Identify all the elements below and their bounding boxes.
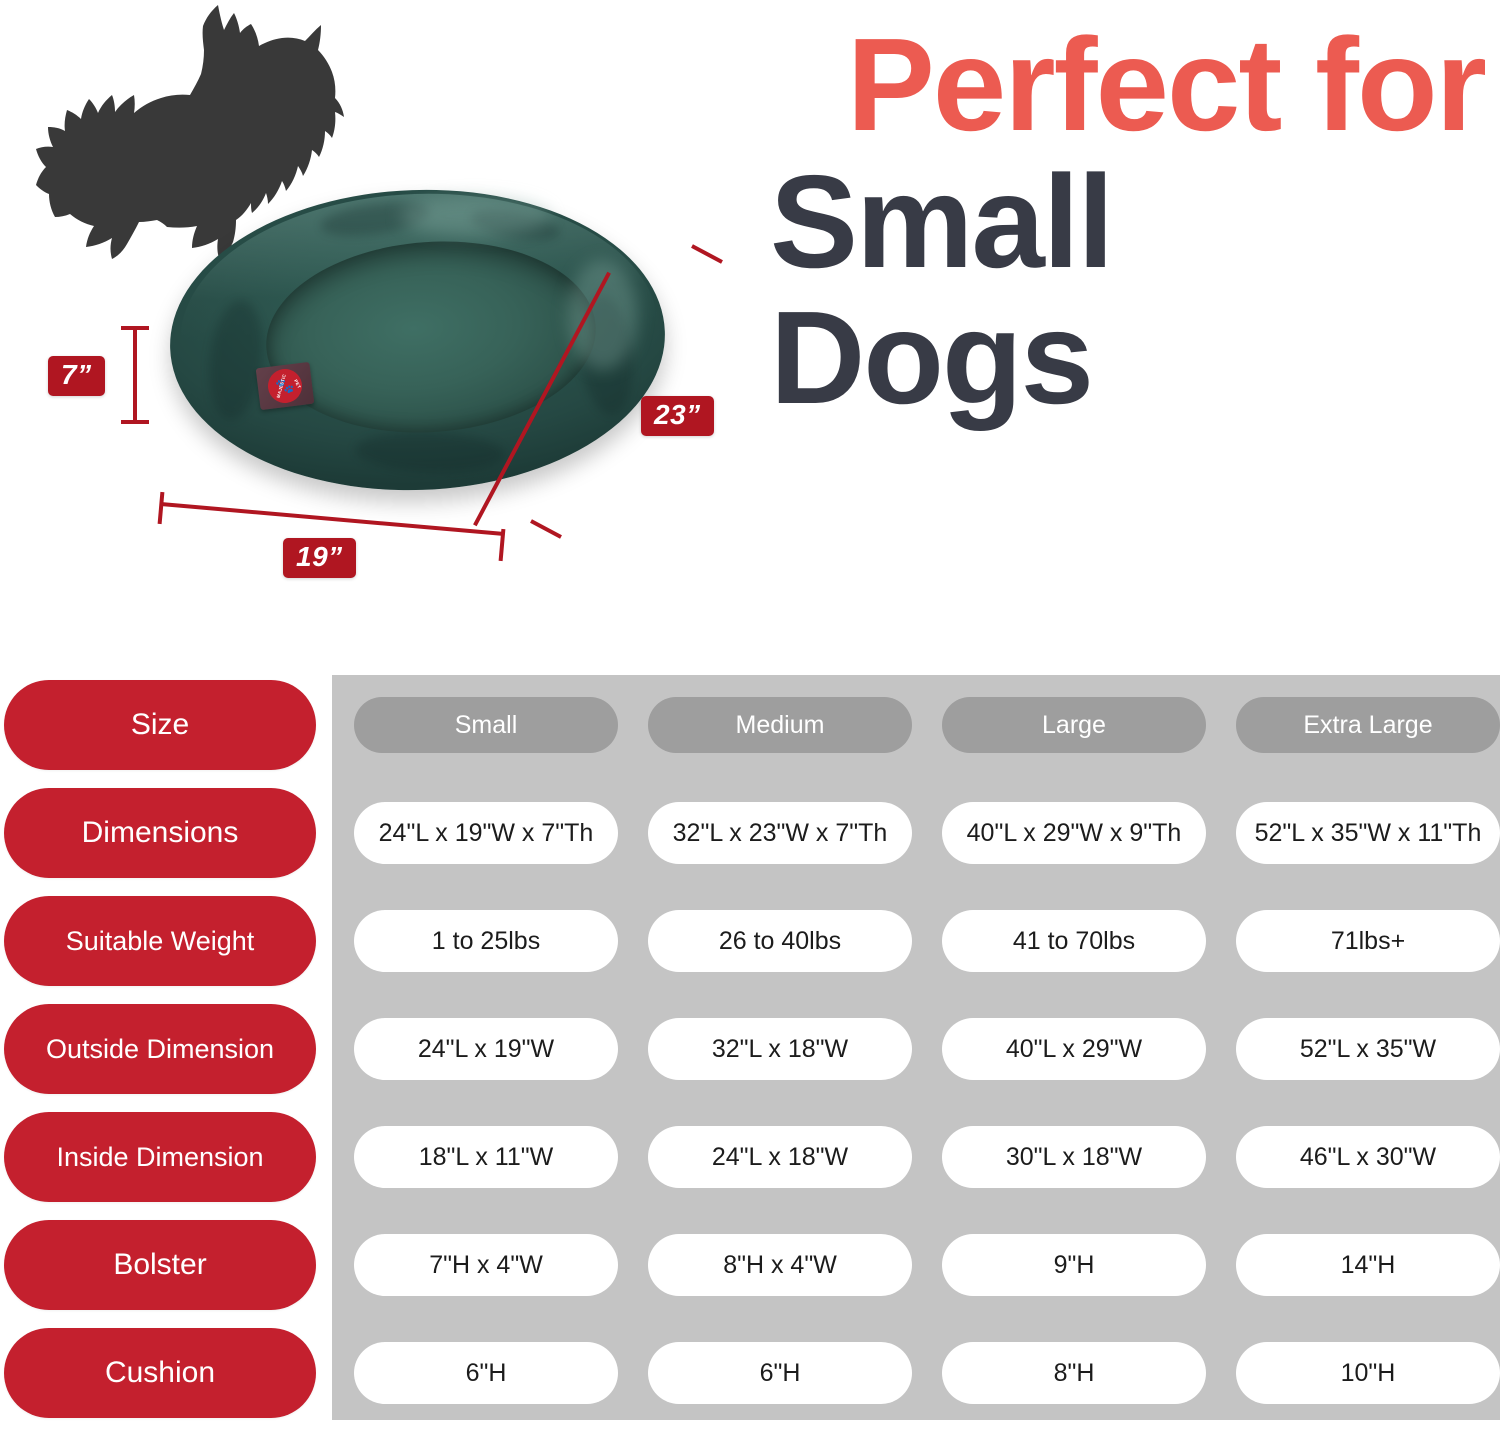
spec-cell: 8"H x 4"W [648,1234,912,1296]
headline-line-1: Perfect for [770,24,1485,145]
product-infographic: MAJESTIC 🐾 PET 7” 23” 19” Perfect for Sm… [0,0,1500,1434]
spec-cell: 8"H [942,1342,1206,1404]
spec-cell: 7"H x 4"W [354,1234,618,1296]
spec-cell: 10"H [1236,1342,1500,1404]
spec-cell: 32"L x 18"W [648,1018,912,1080]
spec-cell: 32"L x 23"W x 7"Th [648,802,912,864]
bed-highlight [568,260,638,370]
spec-row-label: Inside Dimension [4,1112,316,1202]
length-dimension-cap-left [158,492,165,524]
spec-cell: 40"L x 29"W [942,1018,1206,1080]
spec-cell: 24"L x 19"W x 7"Th [354,802,618,864]
spec-column-header: Extra Large [1236,697,1500,753]
spec-cell: 71lbs+ [1236,910,1500,972]
spec-cell: 14"H [1236,1234,1500,1296]
spec-cell: 6"H [648,1342,912,1404]
spec-row-label: Size [4,680,316,770]
spec-cell: 26 to 40lbs [648,910,912,972]
spec-row-label: Cushion [4,1328,316,1418]
spec-column-header: Small [354,697,618,753]
spec-row-label: Outside Dimension [4,1004,316,1094]
headline-line-3: Dogs [770,297,1485,418]
spec-grid-panel: SmallMediumLargeExtra Large24"L x 19"W x… [332,675,1500,1420]
spec-cell: 9"H [942,1234,1206,1296]
width-dimension-cap-top [691,244,723,263]
height-dimension-cap-top [121,326,149,330]
spec-column-header: Medium [648,697,912,753]
spec-cell: 46"L x 30"W [1236,1126,1500,1188]
spec-cell: 24"L x 19"W [354,1018,618,1080]
callout-width: 23” [641,396,714,436]
brand-badge: MAJESTIC 🐾 PET [266,367,304,405]
height-dimension-cap-bottom [121,420,149,424]
specification-table: SmallMediumLargeExtra Large24"L x 19"W x… [0,655,1500,1434]
spec-row-label: Bolster [4,1220,316,1310]
product-image-dog-bed: MAJESTIC 🐾 PET [170,190,665,510]
callout-height: 7” [48,356,105,396]
spec-column-header: Large [942,697,1206,753]
spec-row-label: Suitable Weight [4,896,316,986]
spec-cell: 1 to 25lbs [354,910,618,972]
spec-cell: 6"H [354,1342,618,1404]
callout-length: 19” [283,538,356,578]
spec-cell: 40"L x 29"W x 9"Th [942,802,1206,864]
headline-line-2: Small [770,161,1485,282]
spec-cell: 41 to 70lbs [942,910,1206,972]
spec-cell: 52"L x 35"W x 11"Th [1236,802,1500,864]
width-dimension-cap-bottom [530,519,562,538]
bed-highlight [400,196,550,236]
page-title: Perfect for Small Dogs [770,24,1485,418]
spec-cell: 30"L x 18"W [942,1126,1206,1188]
spec-cell: 18"L x 11"W [354,1126,618,1188]
spec-row-label-column: SizeDimensionsSuitable WeightOutside Dim… [0,675,320,1420]
height-dimension-line [133,326,137,424]
spec-cell: 24"L x 18"W [648,1126,912,1188]
spec-row-label: Dimensions [4,788,316,878]
hero-section: MAJESTIC 🐾 PET 7” 23” 19” Perfect for Sm… [0,0,1500,655]
spec-cell: 52"L x 35"W [1236,1018,1500,1080]
brand-tag: MAJESTIC 🐾 PET [256,362,315,410]
